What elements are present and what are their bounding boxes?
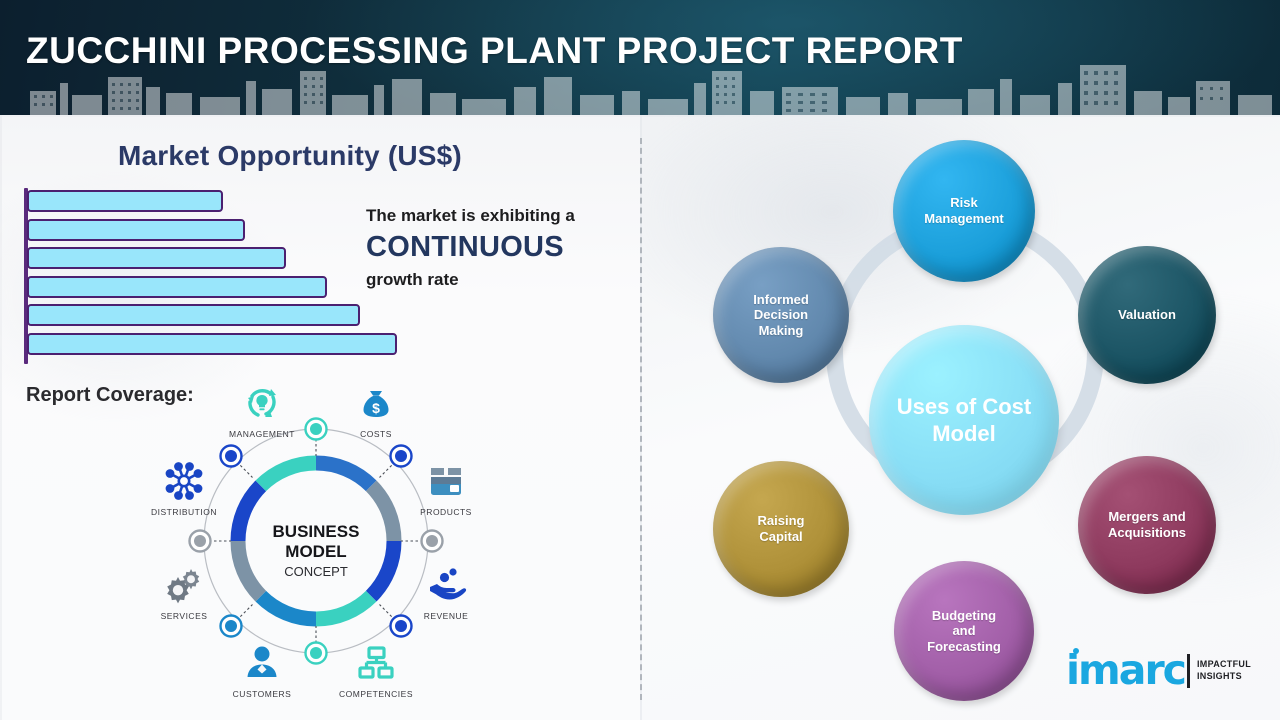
- coverage-label-products: PRODUCTS: [398, 507, 494, 517]
- coverage-item-services[interactable]: SERVICES: [136, 562, 232, 621]
- growth-note-emphasis: CONTINUOUS: [366, 232, 638, 264]
- bar-5: [27, 304, 360, 326]
- node-3-line-1: Budgeting: [921, 608, 1007, 624]
- node-4-line-1: Raising: [752, 513, 811, 529]
- logo-tagline-line2: INSIGHTS: [1197, 671, 1251, 682]
- slide-header: ZUCCHINI PROCESSING PLANT PROJECT REPORT: [0, 0, 1280, 115]
- cost-model-center-node[interactable]: Uses of Cost Model: [869, 325, 1059, 515]
- coverage-label-revenue: REVENUE: [398, 611, 494, 621]
- growth-note: The market is exhibiting a CONTINUOUS gr…: [366, 205, 638, 290]
- coverage-label-customers: CUSTOMERS: [214, 689, 310, 699]
- bm-line3: CONCEPT: [284, 564, 348, 579]
- org-chart-icon: [328, 640, 424, 686]
- cost-model-node-budgeting-and-forecasting[interactable]: BudgetingandForecasting: [894, 561, 1034, 701]
- person-user-icon: [214, 640, 310, 686]
- cost-model-node-informed-decision-making[interactable]: InformedDecisionMaking: [713, 247, 849, 383]
- node-0-line-2: Management: [918, 211, 1009, 227]
- business-model-diagram: BUSINESS MODEL CONCEPT: [140, 372, 500, 704]
- logo-wordmark: imarc: [1066, 650, 1185, 691]
- node-5-line-3: Making: [747, 323, 815, 339]
- node-2-line-1: Mergers and: [1102, 509, 1192, 525]
- recycle-lightbulb-icon: [214, 380, 310, 426]
- market-opportunity-title: Market Opportunity (US$): [118, 140, 462, 172]
- coverage-item-costs[interactable]: $ COSTS: [328, 380, 424, 439]
- svg-text:$: $: [372, 400, 380, 416]
- growth-note-line1: The market is exhibiting a: [366, 205, 638, 228]
- coverage-label-management: MANAGEMENT: [214, 429, 310, 439]
- logo-dot-icon: [1073, 648, 1079, 654]
- bm-line1: BUSINESS: [273, 522, 360, 541]
- money-bag-icon: $: [328, 380, 424, 426]
- cost-model-node-mergers-and-acquisitions[interactable]: Mergers andAcquisitions: [1078, 456, 1216, 594]
- logo-tagline-line1: IMPACTFUL: [1197, 659, 1251, 670]
- imarc-logo[interactable]: imarc IMPACTFUL INSIGHTS: [1066, 650, 1251, 691]
- node-4-line-2: Capital: [752, 529, 811, 545]
- node-0-line-1: Risk: [918, 195, 1009, 211]
- bar-2: [27, 219, 245, 241]
- coverage-item-distribution[interactable]: DISTRIBUTION: [136, 458, 232, 517]
- center-line1: Uses of: [897, 394, 976, 419]
- bar-1: [27, 190, 223, 212]
- coverage-label-competencies: COMPETENCIES: [328, 689, 424, 699]
- coverage-item-competencies[interactable]: COMPETENCIES: [328, 640, 424, 699]
- coverage-item-management[interactable]: MANAGEMENT: [214, 380, 310, 439]
- bm-line2: MODEL: [285, 542, 346, 561]
- gears-icon: [136, 562, 232, 608]
- coverage-label-costs: COSTS: [328, 429, 424, 439]
- market-opportunity-bar-chart: [24, 188, 424, 364]
- coverage-label-services: SERVICES: [136, 611, 232, 621]
- page-title: ZUCCHINI PROCESSING PLANT PROJECT REPORT: [26, 30, 963, 72]
- coverage-item-customers[interactable]: CUSTOMERS: [214, 640, 310, 699]
- slide-root: ZUCCHINI PROCESSING PLANT PROJECT REPORT…: [0, 0, 1280, 720]
- cost-model-node-raising-capital[interactable]: RaisingCapital: [713, 461, 849, 597]
- hand-coins-icon: [398, 562, 494, 608]
- vertical-dashed-divider: [640, 138, 642, 700]
- node-5-line-2: Decision: [747, 307, 815, 323]
- coverage-item-revenue[interactable]: REVENUE: [398, 562, 494, 621]
- bar-6: [27, 333, 397, 355]
- logo-divider: [1187, 654, 1190, 688]
- coverage-label-distribution: DISTRIBUTION: [136, 507, 232, 517]
- node-3-line-3: Forecasting: [921, 639, 1007, 655]
- node-5-line-1: Informed: [747, 292, 815, 308]
- growth-note-line3: growth rate: [366, 270, 638, 290]
- node-2-line-2: Acquisitions: [1102, 525, 1192, 541]
- network-nodes-icon: [136, 458, 232, 504]
- node-3-line-2: and: [921, 623, 1007, 639]
- package-box-icon: [398, 458, 494, 504]
- business-model-donut: BUSINESS MODEL CONCEPT: [140, 372, 500, 704]
- bar-4: [27, 276, 327, 298]
- cost-model-node-risk-management[interactable]: RiskManagement: [893, 140, 1035, 282]
- cost-model-node-valuation[interactable]: Valuation: [1078, 246, 1216, 384]
- coverage-item-products[interactable]: PRODUCTS: [398, 458, 494, 517]
- node-1-line-1: Valuation: [1112, 307, 1182, 323]
- bar-3: [27, 247, 286, 269]
